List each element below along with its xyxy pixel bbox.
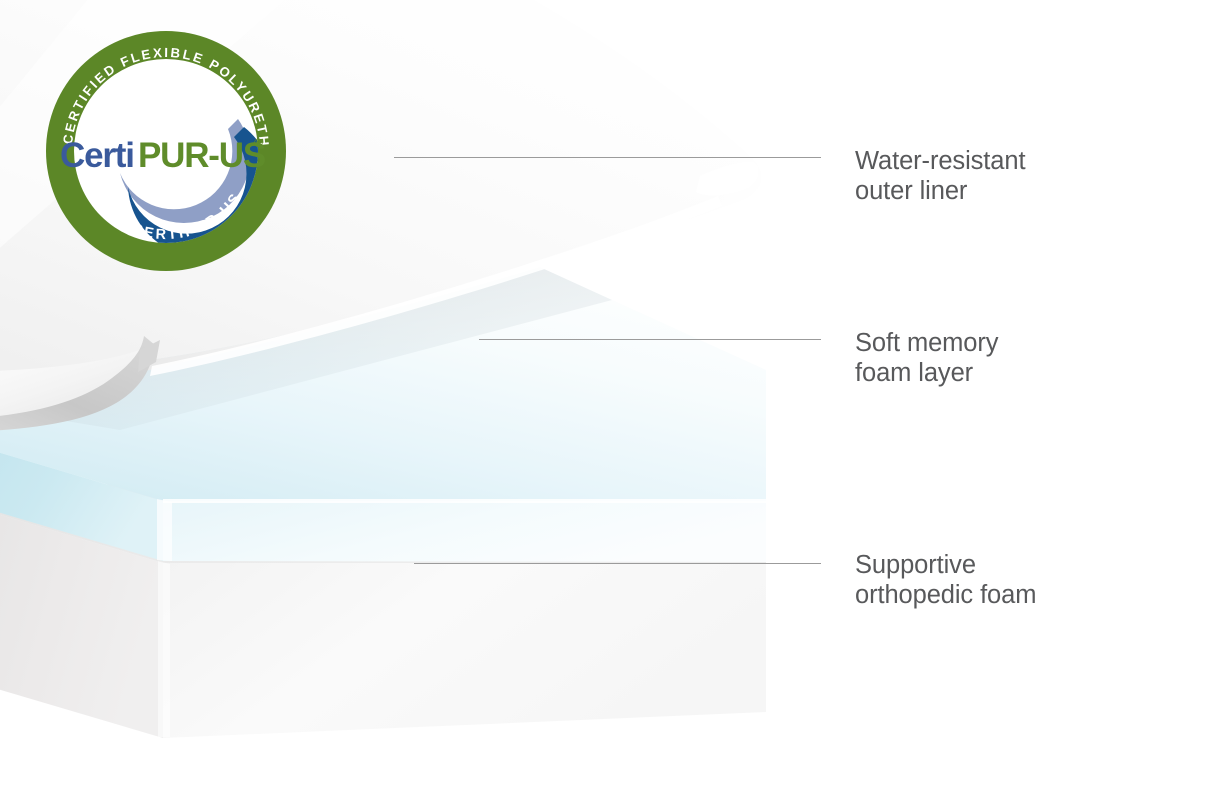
memory-foam-corner-bevel — [157, 499, 172, 561]
certipur-us-badge: CONTAINS CERTIFIED FLEXIBLE POLYURETHANE… — [42, 27, 290, 275]
memory-foam-front-face — [163, 501, 766, 562]
badge-wordmark-pur-us: PUR-US — [138, 136, 265, 175]
orthopedic-foam-front-face — [163, 563, 766, 738]
orthopedic-foam-corner-highlight — [158, 561, 170, 737]
callout-supportive-orthopedic-foam: Supportive orthopedic foam — [855, 550, 1185, 610]
leader-line-memory-foam — [479, 339, 821, 340]
leader-line-orthopedic-foam — [414, 563, 821, 564]
memory-foam-top-arris — [163, 499, 766, 503]
badge-wordmark: Certi PUR-US ® — [60, 136, 265, 175]
badge-registered-mark-icon: ® — [254, 136, 263, 150]
mattress-layer-diagram: Water-resistant outer liner Soft memory … — [0, 0, 1214, 810]
badge-wordmark-certi: Certi — [60, 136, 134, 175]
leader-line-outer-liner — [394, 157, 821, 158]
callout-water-resistant-outer-liner: Water-resistant outer liner — [855, 146, 1185, 206]
callout-soft-memory-foam-layer: Soft memory foam layer — [855, 328, 1185, 388]
